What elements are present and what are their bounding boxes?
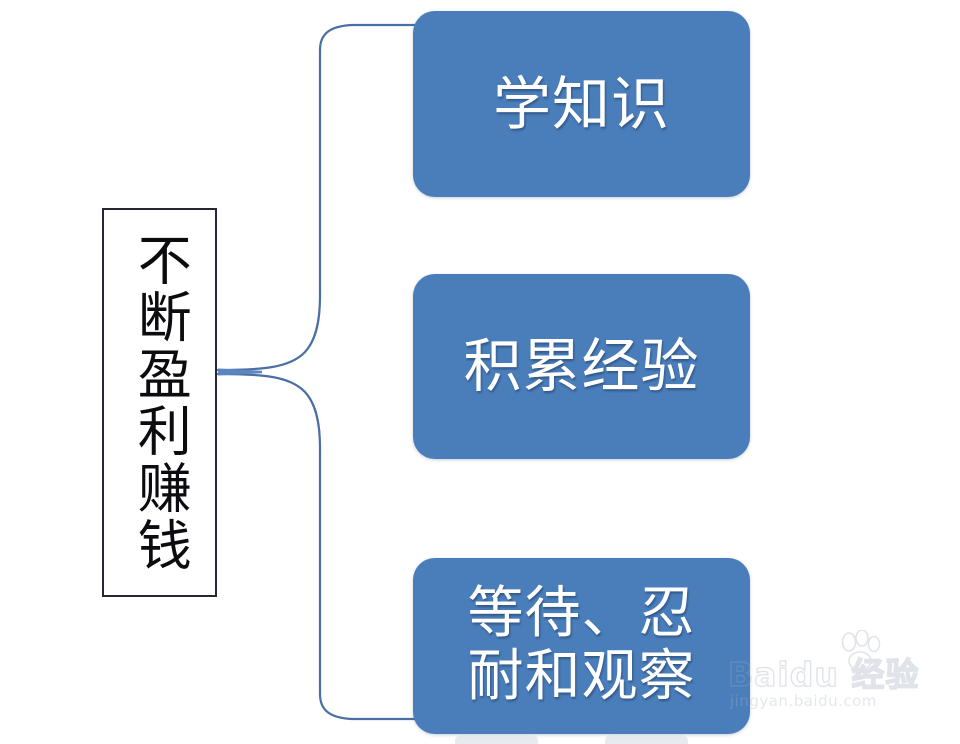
root-node[interactable]: 不断盈利赚钱 <box>102 208 217 597</box>
connector-root-stub <box>218 369 262 376</box>
branch-node-label: 学知识 <box>483 73 680 136</box>
diagram-canvas: 不断盈利赚钱 学知识 积累经验 等待、忍 耐和观察 Baidu 经验 jingy… <box>0 0 960 744</box>
branch-node-label: 积累经验 <box>453 335 709 398</box>
watermark-url: jingyan.baidu.com <box>730 692 877 710</box>
branch-node-learn-knowledge[interactable]: 学知识 <box>413 11 750 197</box>
branch-node-accumulate-experience[interactable]: 积累经验 <box>413 274 750 459</box>
branch-node-wait-endure-observe[interactable]: 等待、忍 耐和观察 <box>413 558 750 734</box>
connector-arm-bottom <box>320 694 420 719</box>
root-node-label: 不断盈利赚钱 <box>129 232 191 574</box>
watermark: Baidu 经验 jingyan.baidu.com <box>728 648 933 728</box>
connector-fork-lower <box>218 374 320 448</box>
connector-fork-upper <box>218 296 320 370</box>
cutoff-shape <box>605 735 688 744</box>
connector-arm-top <box>320 25 420 50</box>
cutoff-shape <box>455 735 538 744</box>
paw-print-icon <box>836 630 884 674</box>
branch-node-label: 等待、忍 耐和观察 <box>458 583 706 708</box>
watermark-brand: Baidu 经验 <box>728 648 919 696</box>
